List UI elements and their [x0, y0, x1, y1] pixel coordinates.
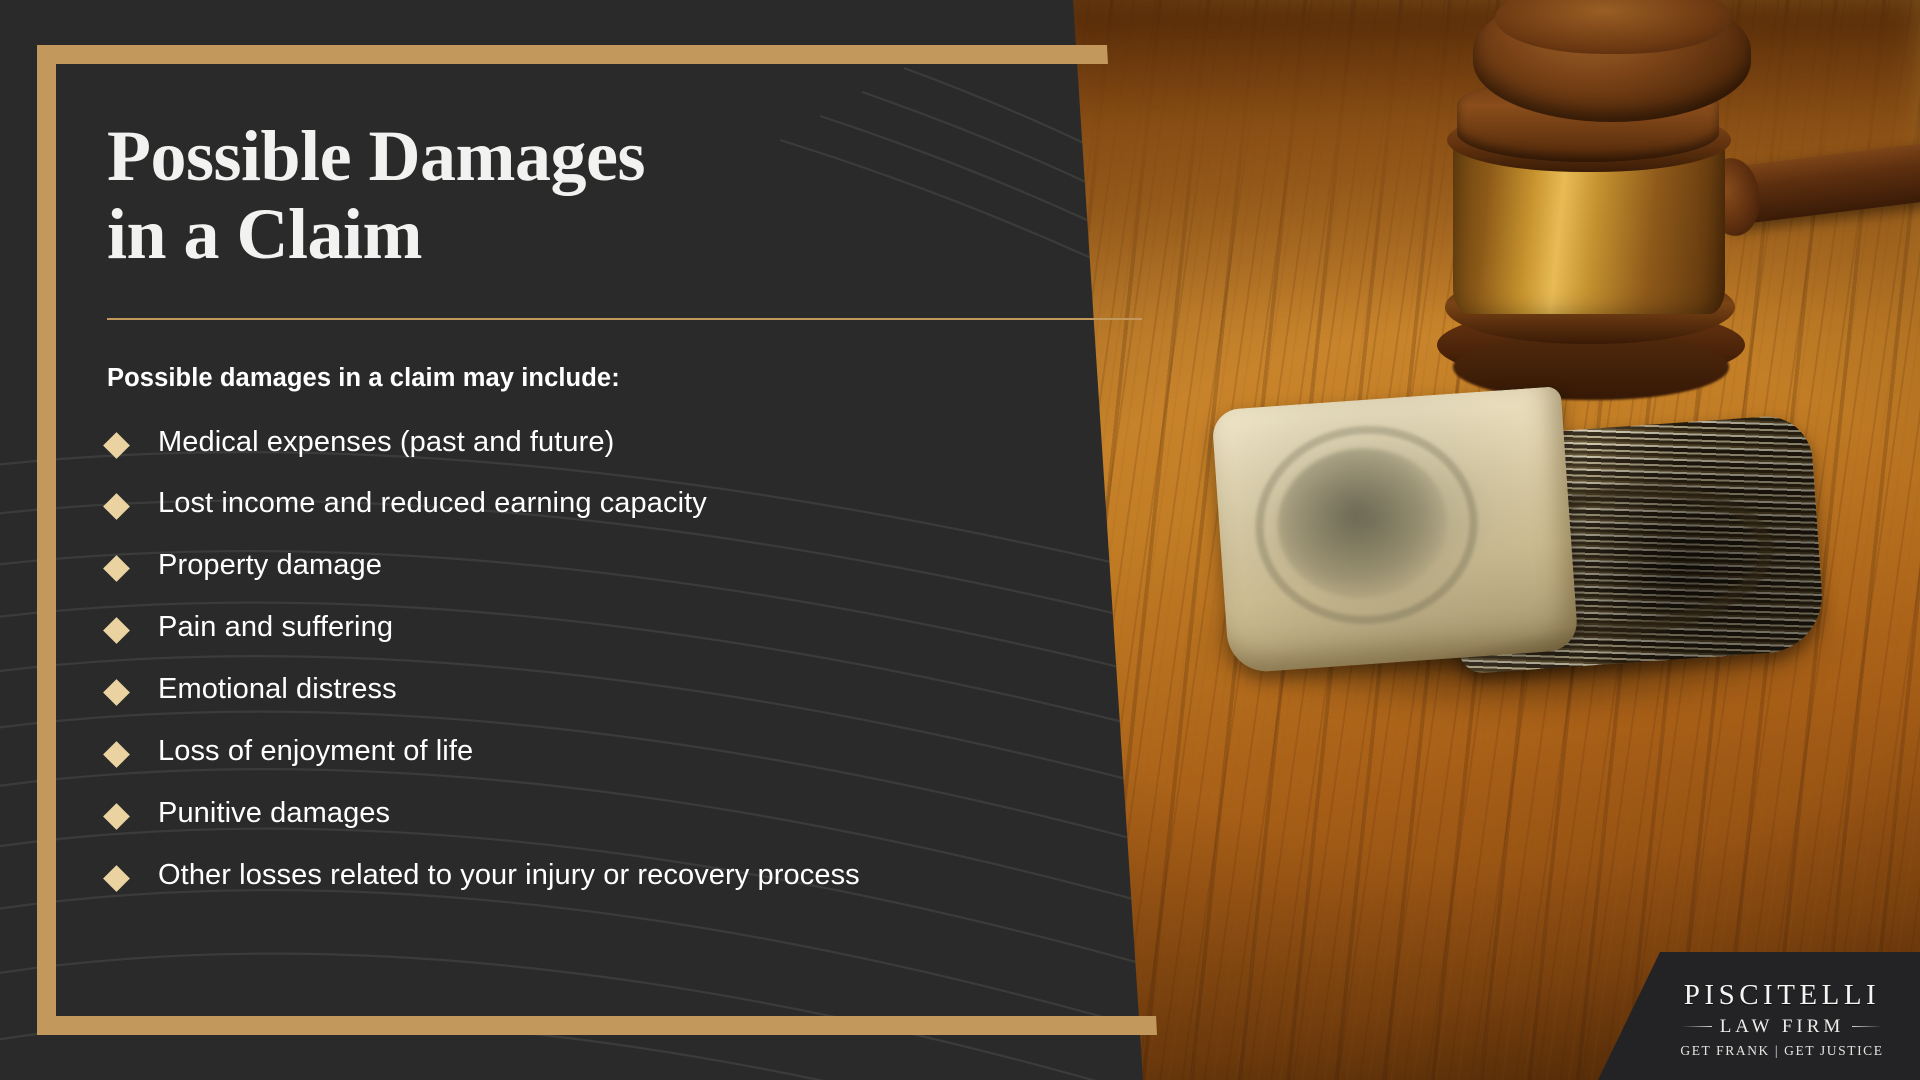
list-item-label: Lost income and reduced earning capacity	[158, 488, 707, 520]
slide-content: Possible Damages in a Claim Possible dam…	[107, 118, 1097, 922]
damages-list: Medical expenses (past and future) Lost …	[107, 427, 1097, 892]
list-item: Property damage	[107, 550, 1097, 582]
list-item-label: Loss of enjoyment of life	[158, 736, 473, 768]
list-item: Emotional distress	[107, 674, 1097, 706]
logo-subtitle-row: LAW FIRM	[1682, 1017, 1883, 1036]
page-title: Possible Damages in a Claim	[107, 118, 1097, 274]
logo-rule-right-icon	[1852, 1026, 1882, 1027]
list-item: Medical expenses (past and future)	[107, 427, 1097, 459]
logo-firm-name: PISCITELLI	[1684, 981, 1880, 1010]
logo-rule-left-icon	[1682, 1026, 1712, 1027]
diamond-bullet-icon	[103, 803, 130, 830]
list-item-label: Emotional distress	[158, 674, 397, 706]
list-item: Punitive damages	[107, 798, 1097, 830]
list-item-label: Medical expenses (past and future)	[158, 427, 614, 459]
logo-subtitle: LAW FIRM	[1720, 1017, 1845, 1036]
diamond-bullet-icon	[103, 741, 130, 768]
diamond-bullet-icon	[103, 555, 130, 582]
logo-tagline: GET FRANK | GET JUSTICE	[1680, 1044, 1883, 1058]
lead-paragraph: Possible damages in a claim may include:	[107, 364, 1097, 393]
diamond-bullet-icon	[103, 432, 130, 459]
list-item-label: Punitive damages	[158, 798, 390, 830]
cash-stack-illustration	[1220, 390, 1820, 720]
list-item-label: Property damage	[158, 550, 382, 582]
diamond-bullet-icon	[103, 493, 130, 520]
diamond-bullet-icon	[103, 617, 130, 644]
diamond-bullet-icon	[103, 865, 130, 892]
cash-top-bill	[1211, 386, 1579, 674]
list-item: Loss of enjoyment of life	[107, 736, 1097, 768]
list-item-label: Other losses related to your injury or r…	[158, 860, 860, 892]
title-divider	[107, 318, 1142, 320]
list-item: Other losses related to your injury or r…	[107, 860, 1097, 892]
gavel-illustration	[1395, 0, 1915, 412]
slide-root: Possible Damages in a Claim Possible dam…	[0, 0, 1920, 1080]
list-item: Lost income and reduced earning capacity	[107, 488, 1097, 520]
diamond-bullet-icon	[103, 679, 130, 706]
list-item-label: Pain and suffering	[158, 612, 393, 644]
list-item: Pain and suffering	[107, 612, 1097, 644]
